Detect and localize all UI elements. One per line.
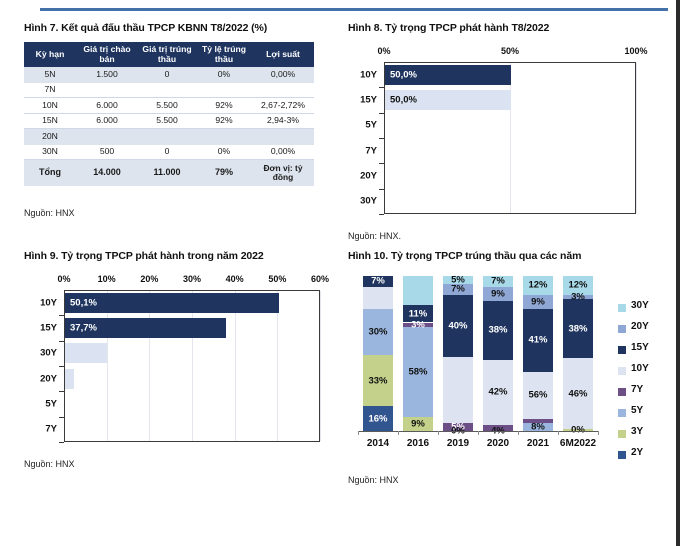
cell-won: 5.500 [138,98,196,113]
table-row: 15N 6.000 5.500 92% 2,94-3% [24,113,314,128]
cell-ratio: 92% [196,98,252,113]
legend-label: 5Y [631,405,643,416]
cell-offered [76,82,138,97]
legend-item[interactable]: 20Y [618,319,678,340]
stack-segment-10Y [363,287,393,309]
figure-8-title: Hình 8. Tỷ trọng TPCP phát hành T8/2022 [348,22,658,34]
stacked-bar [363,276,393,431]
gridline [636,63,637,213]
stack-segment-label: 7% [451,284,465,295]
cell-yield [252,129,314,144]
cell-ratio: 92% [196,113,252,128]
cell-total-offered: 14.000 [76,159,138,186]
x-axis-category-label: 2020 [478,438,518,449]
bar-value-label: 50,0% [390,69,417,80]
legend-swatch-30Y [618,304,626,312]
cell-offered: 6.000 [76,113,138,128]
table-row: 20N [24,129,314,144]
y-axis-category-label: 10Y [24,297,57,308]
gridline [277,291,278,441]
figure-8-source: Nguồn: HNX. [348,231,658,241]
table-row: 10N 6.000 5.500 92% 2,67-2,72% [24,98,314,113]
stacked-bar [403,276,433,431]
x-axis-category-label: 2021 [518,438,558,449]
x-axis-tick [398,431,399,435]
stack-segment-label: 38% [568,323,587,334]
stack-segment-label: 30% [368,326,387,337]
cell-yield [252,82,314,97]
stack-segment-label: 56% [528,390,547,401]
y-axis-tick [379,87,384,88]
y-axis-tick [379,214,384,215]
x-axis-tick-label: 0% [57,274,70,284]
y-axis-category-label: 20Y [24,373,57,384]
y-axis-category-label: 10Y [348,69,377,80]
y-axis-tick [59,341,64,342]
gridline [320,291,321,441]
y-axis-tick [379,189,384,190]
cell-ratio: 0% [196,67,252,82]
x-axis-category-label: 2014 [358,438,398,449]
legend-swatch-3Y [618,430,626,438]
y-axis-category-label: 15Y [24,323,57,334]
cell-ratio: 0% [196,144,252,159]
x-axis-tick-label: 100% [624,46,647,56]
y-axis-category-label: 7Y [24,424,57,435]
y-axis-category-label: 20Y [348,171,377,182]
x-axis-tick [438,431,439,435]
col-header-won: Giá trị trúng thầu [138,42,196,67]
x-axis-tick-label: 50% [501,46,519,56]
cell-ratio [196,129,252,144]
col-header-win-ratio: Tỷ lệ trúng thầu [196,42,252,67]
stack-segment-10Y [443,357,473,424]
bar-value-label: 37,7% [70,323,97,334]
legend-label: 3Y [631,426,643,437]
x-axis-tick-label: 60% [311,274,329,284]
x-axis-category-label: 2019 [438,438,478,449]
legend-item[interactable]: 5Y [618,403,678,424]
gridline [107,291,108,441]
figure-10-title: Hình 10. Tỷ trọng TPCP trúng thầu qua cá… [348,250,668,262]
stack-segment-label: 33% [368,375,387,386]
x-axis-tick-label: 50% [268,274,286,284]
figure-10-panel: Hình 10. Tỷ trọng TPCP trúng thầu qua cá… [348,250,668,485]
cell-won [138,82,196,97]
stack-segment-label: 42% [488,387,507,398]
x-axis-tick-label: 30% [183,274,201,284]
stack-segment-label: 38% [488,325,507,336]
stack-segment-label: 3% [411,319,425,330]
col-header-yield: Lợi suất [252,42,314,67]
legend-label: 30Y [631,300,649,311]
y-axis-category-label: 5Y [348,120,377,131]
gridline [510,63,511,213]
y-axis-category-label: 30Y [348,196,377,207]
y-axis-tick [59,442,64,443]
legend-swatch-10Y [618,367,626,375]
x-axis-category-label: 6M2022 [558,438,598,449]
page-edge-shadow [676,0,680,546]
cell-won: 0 [138,67,196,82]
legend-swatch-2Y [618,451,626,459]
legend-item[interactable]: 15Y [618,340,678,361]
cell-yield: 2,94-3% [252,113,314,128]
legend-item[interactable]: 2Y [618,445,678,466]
table-row: 5N 1.500 0 0% 0,00% [24,67,314,82]
cell-offered [76,129,138,144]
y-axis-tick [379,138,384,139]
y-axis-category-label: 15Y [348,95,377,106]
bar [65,343,107,363]
bid-results-table: Kỳ hạn Giá trị chào bán Giá trị trúng th… [24,42,314,186]
legend-label: 2Y [631,447,643,458]
plot-area [64,290,320,442]
stacked-bar [443,276,473,431]
stack-segment-label: 7% [371,276,385,287]
legend-label: 10Y [631,363,649,374]
chart-legend: 30Y20Y15Y10Y7Y5Y3Y2Y [618,298,678,466]
cell-yield: 0,00% [252,144,314,159]
bar [65,369,74,389]
y-axis-tick [59,315,64,316]
gridline [149,291,150,441]
legend-swatch-20Y [618,325,626,333]
x-axis-tick [358,431,359,435]
col-header-offered: Giá trị chào bán [76,42,138,67]
y-axis-category-label: 7Y [348,145,377,156]
cell-total-ratio: 79% [196,159,252,186]
cell-won [138,129,196,144]
plot-area [384,62,636,214]
cell-term: 10N [24,98,76,113]
report-page: Hình 7. Kết quả đấu thầu TPCP KBNN T8/20… [0,0,680,546]
x-axis-tick [518,431,519,435]
figure-8-panel: Hình 8. Tỷ trọng TPCP phát hành T8/2022 … [348,22,658,241]
stack-segment-label: 40% [448,320,467,331]
figure-9-panel: Hình 9. Tỷ trọng TPCP phát hành trong nă… [24,250,344,469]
x-axis-tick [598,431,599,435]
figure-7-source: Nguồn: HNX [24,208,330,218]
stack-segment-label: 9% [531,296,545,307]
y-axis-tick [59,391,64,392]
figure-7-title: Hình 7. Kết quả đấu thầu TPCP KBNN T8/20… [24,22,330,34]
header-rule [40,8,668,11]
stack-segment-label: 7% [491,276,505,287]
x-axis-tick [478,431,479,435]
gridline [235,291,236,441]
cell-term: 7N [24,82,76,97]
legend-swatch-5Y [618,409,626,417]
cell-offered: 500 [76,144,138,159]
legend-label: 15Y [631,342,649,353]
figure-10-source: Nguồn: HNX [348,475,668,485]
bar-value-label: 50,1% [70,297,97,308]
legend-item[interactable]: 3Y [618,424,678,445]
table-total-row: Tổng 14.000 11.000 79% Đơn vị: tỷ đồng [24,159,314,186]
cell-unit-note: Đơn vị: tỷ đồng [252,159,314,186]
figure-9-title: Hình 9. Tỷ trọng TPCP phát hành trong nă… [24,250,344,262]
table-header-row: Kỳ hạn Giá trị chào bán Giá trị trúng th… [24,42,314,67]
bar-value-label: 50,0% [390,95,417,106]
col-header-term: Kỳ hạn [24,42,76,67]
y-axis-tick [59,366,64,367]
stack-segment-label: 16% [368,413,387,424]
stack-segment-label: 9% [411,419,425,430]
cell-term: 5N [24,67,76,82]
figure-9-source: Nguồn: HNX [24,459,344,469]
figure-10-chart: 7%30%33%16%11%3%58%9%5%7%40%5%0%7%9%38%4… [348,272,668,467]
cell-term: 20N [24,129,76,144]
stack-segment-label: 12% [568,280,587,291]
x-axis-tick-label: 0% [377,46,390,56]
cell-offered: 1.500 [76,67,138,82]
table-row: 7N [24,82,314,97]
legend-item[interactable]: 30Y [618,298,678,319]
x-axis-tick-label: 20% [140,274,158,284]
x-axis-category-label: 2016 [398,438,438,449]
stack-segment-label: 41% [528,335,547,346]
figure-9-chart: 0%10%20%30%40%50%60%10Y50,1%15Y37,7%30Y2… [24,274,344,449]
cell-ratio [196,82,252,97]
cell-offered: 6.000 [76,98,138,113]
cell-yield: 0,00% [252,67,314,82]
legend-swatch-15Y [618,346,626,354]
legend-item[interactable]: 10Y [618,361,678,382]
bar [65,293,279,313]
stack-segment-label: 9% [491,288,505,299]
stack-segment-label: 46% [568,388,587,399]
stack-segment-label: 11% [409,308,428,319]
legend-swatch-7Y [618,388,626,396]
cell-term: 30N [24,144,76,159]
stack-segment-label: 3% [571,291,585,302]
legend-label: 20Y [631,321,649,332]
legend-label: 7Y [631,384,643,395]
y-axis-category-label: 30Y [24,348,57,359]
cell-won: 0 [138,144,196,159]
y-axis-category-label: 5Y [24,399,57,410]
y-axis-tick [59,417,64,418]
stack-segment-label: 58% [408,367,427,378]
table-row: 30N 500 0 0% 0,00% [24,144,314,159]
stack-segment-label: 12% [528,280,547,291]
stack-segment-30Y [403,276,433,305]
figure-7-panel: Hình 7. Kết quả đấu thầu TPCP KBNN T8/20… [24,22,330,218]
cell-total-won: 11.000 [138,159,196,186]
cell-term: 15N [24,113,76,128]
cell-total-label: Tổng [24,159,76,186]
x-axis-tick [558,431,559,435]
y-axis-tick [379,163,384,164]
legend-item[interactable]: 7Y [618,382,678,403]
x-axis-tick-label: 10% [98,274,116,284]
gridline [192,291,193,441]
y-axis-tick [379,113,384,114]
x-axis-tick-label: 40% [226,274,244,284]
cell-won: 5.500 [138,113,196,128]
cell-yield: 2,67-2,72% [252,98,314,113]
figure-8-chart: 0%50%100%10Y50,0%15Y50,0%5Y7Y20Y30Y [348,46,658,221]
